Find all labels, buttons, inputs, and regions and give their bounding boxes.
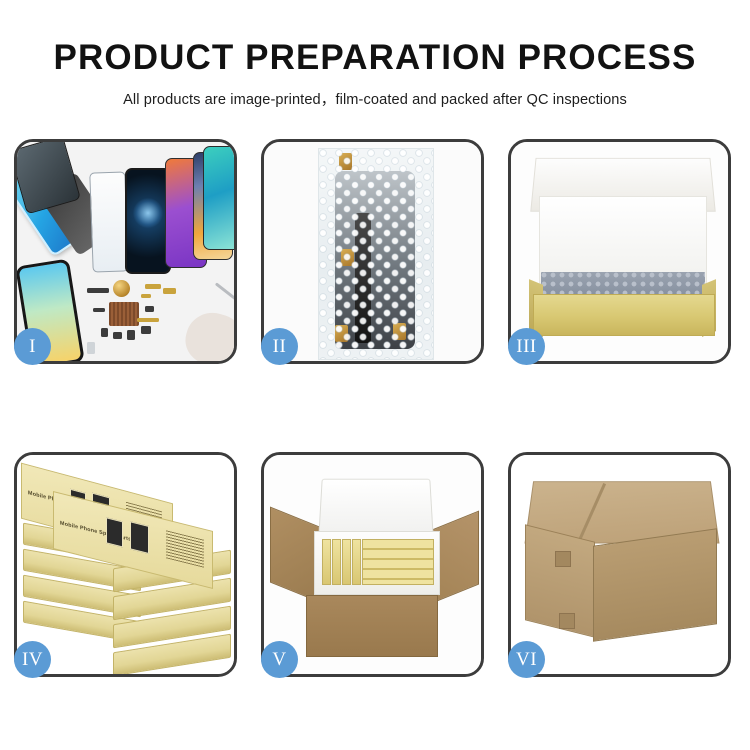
spare-part-chip bbox=[127, 330, 135, 340]
step-panel-2[interactable]: II bbox=[261, 139, 484, 364]
process-steps-grid: I II bbox=[14, 139, 736, 677]
screen-protector bbox=[89, 171, 128, 272]
box-product-image bbox=[106, 517, 123, 547]
phone-teal-screen bbox=[203, 146, 234, 250]
spare-part-chip bbox=[141, 326, 151, 334]
step-badge-5: V bbox=[261, 641, 298, 678]
packed-yellow-box bbox=[332, 539, 341, 585]
logic-board-part bbox=[109, 302, 139, 326]
technician-hand bbox=[180, 307, 234, 361]
step-6-image bbox=[511, 455, 728, 674]
step-badge-4: IV bbox=[14, 641, 51, 678]
sim-tray-part bbox=[87, 342, 95, 354]
step-panel-6[interactable]: VI bbox=[508, 452, 731, 677]
step-panel-3[interactable]: III bbox=[508, 139, 731, 364]
bubble-wrap-bag bbox=[318, 148, 434, 360]
spare-part-chip bbox=[113, 332, 122, 339]
product-preparation-infographic: PRODUCT PREPARATION PROCESS All products… bbox=[0, 0, 750, 750]
box-product-image bbox=[130, 521, 149, 554]
gold-connector-part bbox=[145, 284, 161, 289]
spare-part-chip bbox=[93, 308, 105, 312]
packed-yellow-box bbox=[342, 539, 351, 585]
step-panel-1[interactable]: I bbox=[14, 139, 237, 364]
spare-part-chip bbox=[87, 288, 109, 293]
packed-yellow-box bbox=[352, 539, 361, 585]
speaker-coil-part bbox=[113, 280, 130, 297]
step-badge-6: VI bbox=[508, 641, 545, 678]
yellow-box-front bbox=[533, 294, 715, 336]
packed-yellow-box-row bbox=[362, 539, 434, 585]
carton-tape-patch bbox=[559, 613, 575, 629]
carton-front-panel bbox=[306, 595, 438, 657]
step-2-image bbox=[264, 142, 481, 361]
flex-cable-part bbox=[137, 318, 159, 322]
step-5-image bbox=[264, 455, 481, 674]
step-panel-4[interactable]: Mobile Phone Spare Parts Mobile Phone Sp… bbox=[14, 452, 237, 677]
gold-connector-part bbox=[163, 288, 176, 294]
header: PRODUCT PREPARATION PROCESS All products… bbox=[0, 40, 750, 109]
step-badge-2: II bbox=[261, 328, 298, 365]
page-title: PRODUCT PREPARATION PROCESS bbox=[0, 40, 750, 75]
box-spec-text bbox=[166, 530, 204, 567]
step-badge-1: I bbox=[14, 328, 51, 365]
spare-part-chip bbox=[145, 306, 154, 312]
white-foam-sheet bbox=[539, 196, 707, 284]
bubble-texture bbox=[319, 149, 433, 359]
packed-yellow-box bbox=[322, 539, 331, 585]
step-4-image: Mobile Phone Spare Parts Mobile Phone Sp… bbox=[17, 455, 234, 674]
step-panel-5[interactable]: V bbox=[261, 452, 484, 677]
step-badge-3: III bbox=[508, 328, 545, 365]
carton-tape-patch bbox=[555, 551, 571, 567]
carton-right-panel bbox=[593, 528, 717, 641]
gold-connector-part bbox=[141, 294, 151, 298]
spare-part-chip bbox=[101, 328, 108, 337]
tweezers-tool bbox=[215, 282, 234, 300]
page-subtitle: All products are image-printed，film-coat… bbox=[0, 88, 750, 109]
step-3-image bbox=[511, 142, 728, 361]
step-1-image bbox=[17, 142, 234, 361]
